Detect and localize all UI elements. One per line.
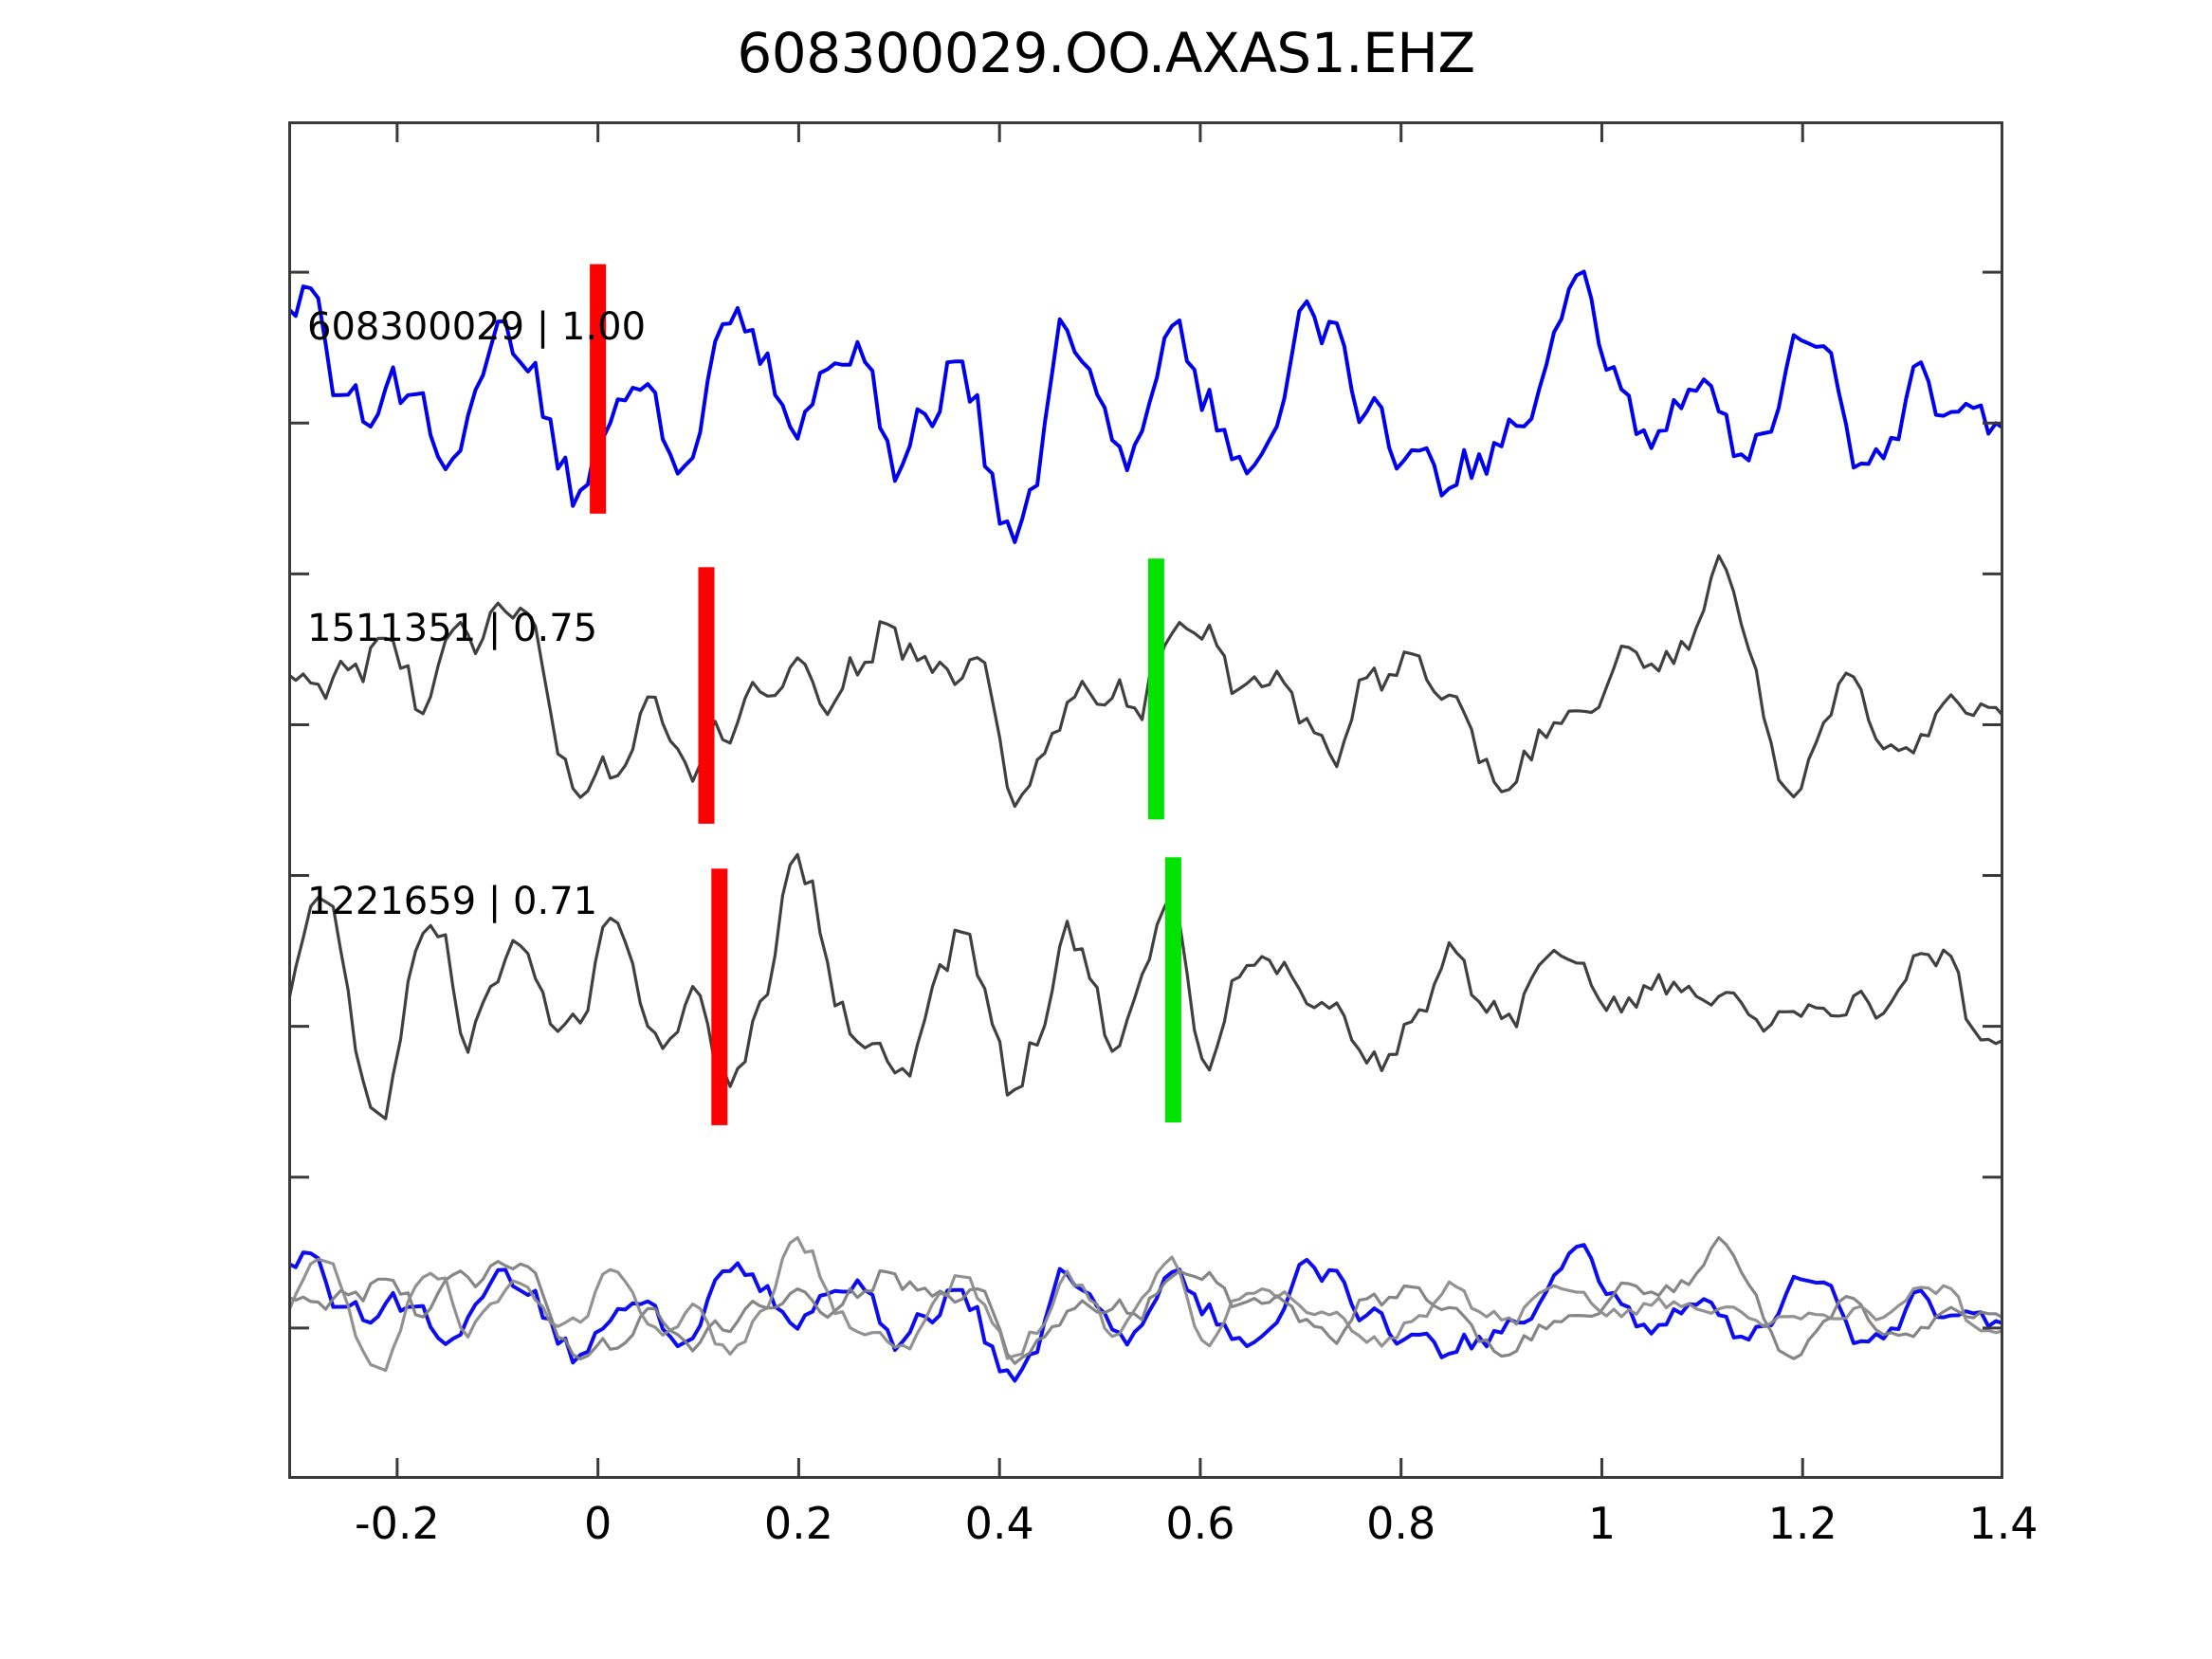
x-axis-tick-label: 1.2 [1768,1498,1837,1549]
pick-marker-s-1511351 [1148,558,1164,819]
x-axis-tick-labels: -0.200.20.40.60.811.21.4 [288,1498,2003,1564]
x-axis-tick-label: 0.2 [764,1498,833,1549]
waveform-path [288,1238,2003,1364]
x-axis-tick-label: 1.4 [1968,1498,2038,1549]
x-axis-tick-label: 0.4 [965,1498,1034,1549]
x-axis-tick-label: 0 [584,1498,612,1549]
x-axis-tick-label: 0.6 [1165,1498,1234,1549]
waveform-path [288,556,2003,806]
trace-label-1511351: 1511351 | 0.75 [307,607,597,650]
pick-marker-p-1511351 [699,567,715,824]
trace-label-1221659: 1221659 | 0.71 [307,880,597,923]
x-axis-tick-label: 1 [1588,1498,1616,1549]
pick-marker-s-1221659 [1165,857,1181,1122]
x-axis-tick-label: -0.2 [355,1498,440,1549]
x-axis-tick-label: 0.8 [1366,1498,1435,1549]
figure-canvas: 608300029.OO.AXAS1.EHZ 608300029 | 1.00 … [0,0,2212,1659]
pick-marker-p-608300029 [590,264,606,514]
pick-marker-p-1221659 [711,868,727,1125]
page-title: 608300029.OO.AXAS1.EHZ [0,21,2212,85]
trace-label-608300029: 608300029 | 1.00 [307,305,646,349]
